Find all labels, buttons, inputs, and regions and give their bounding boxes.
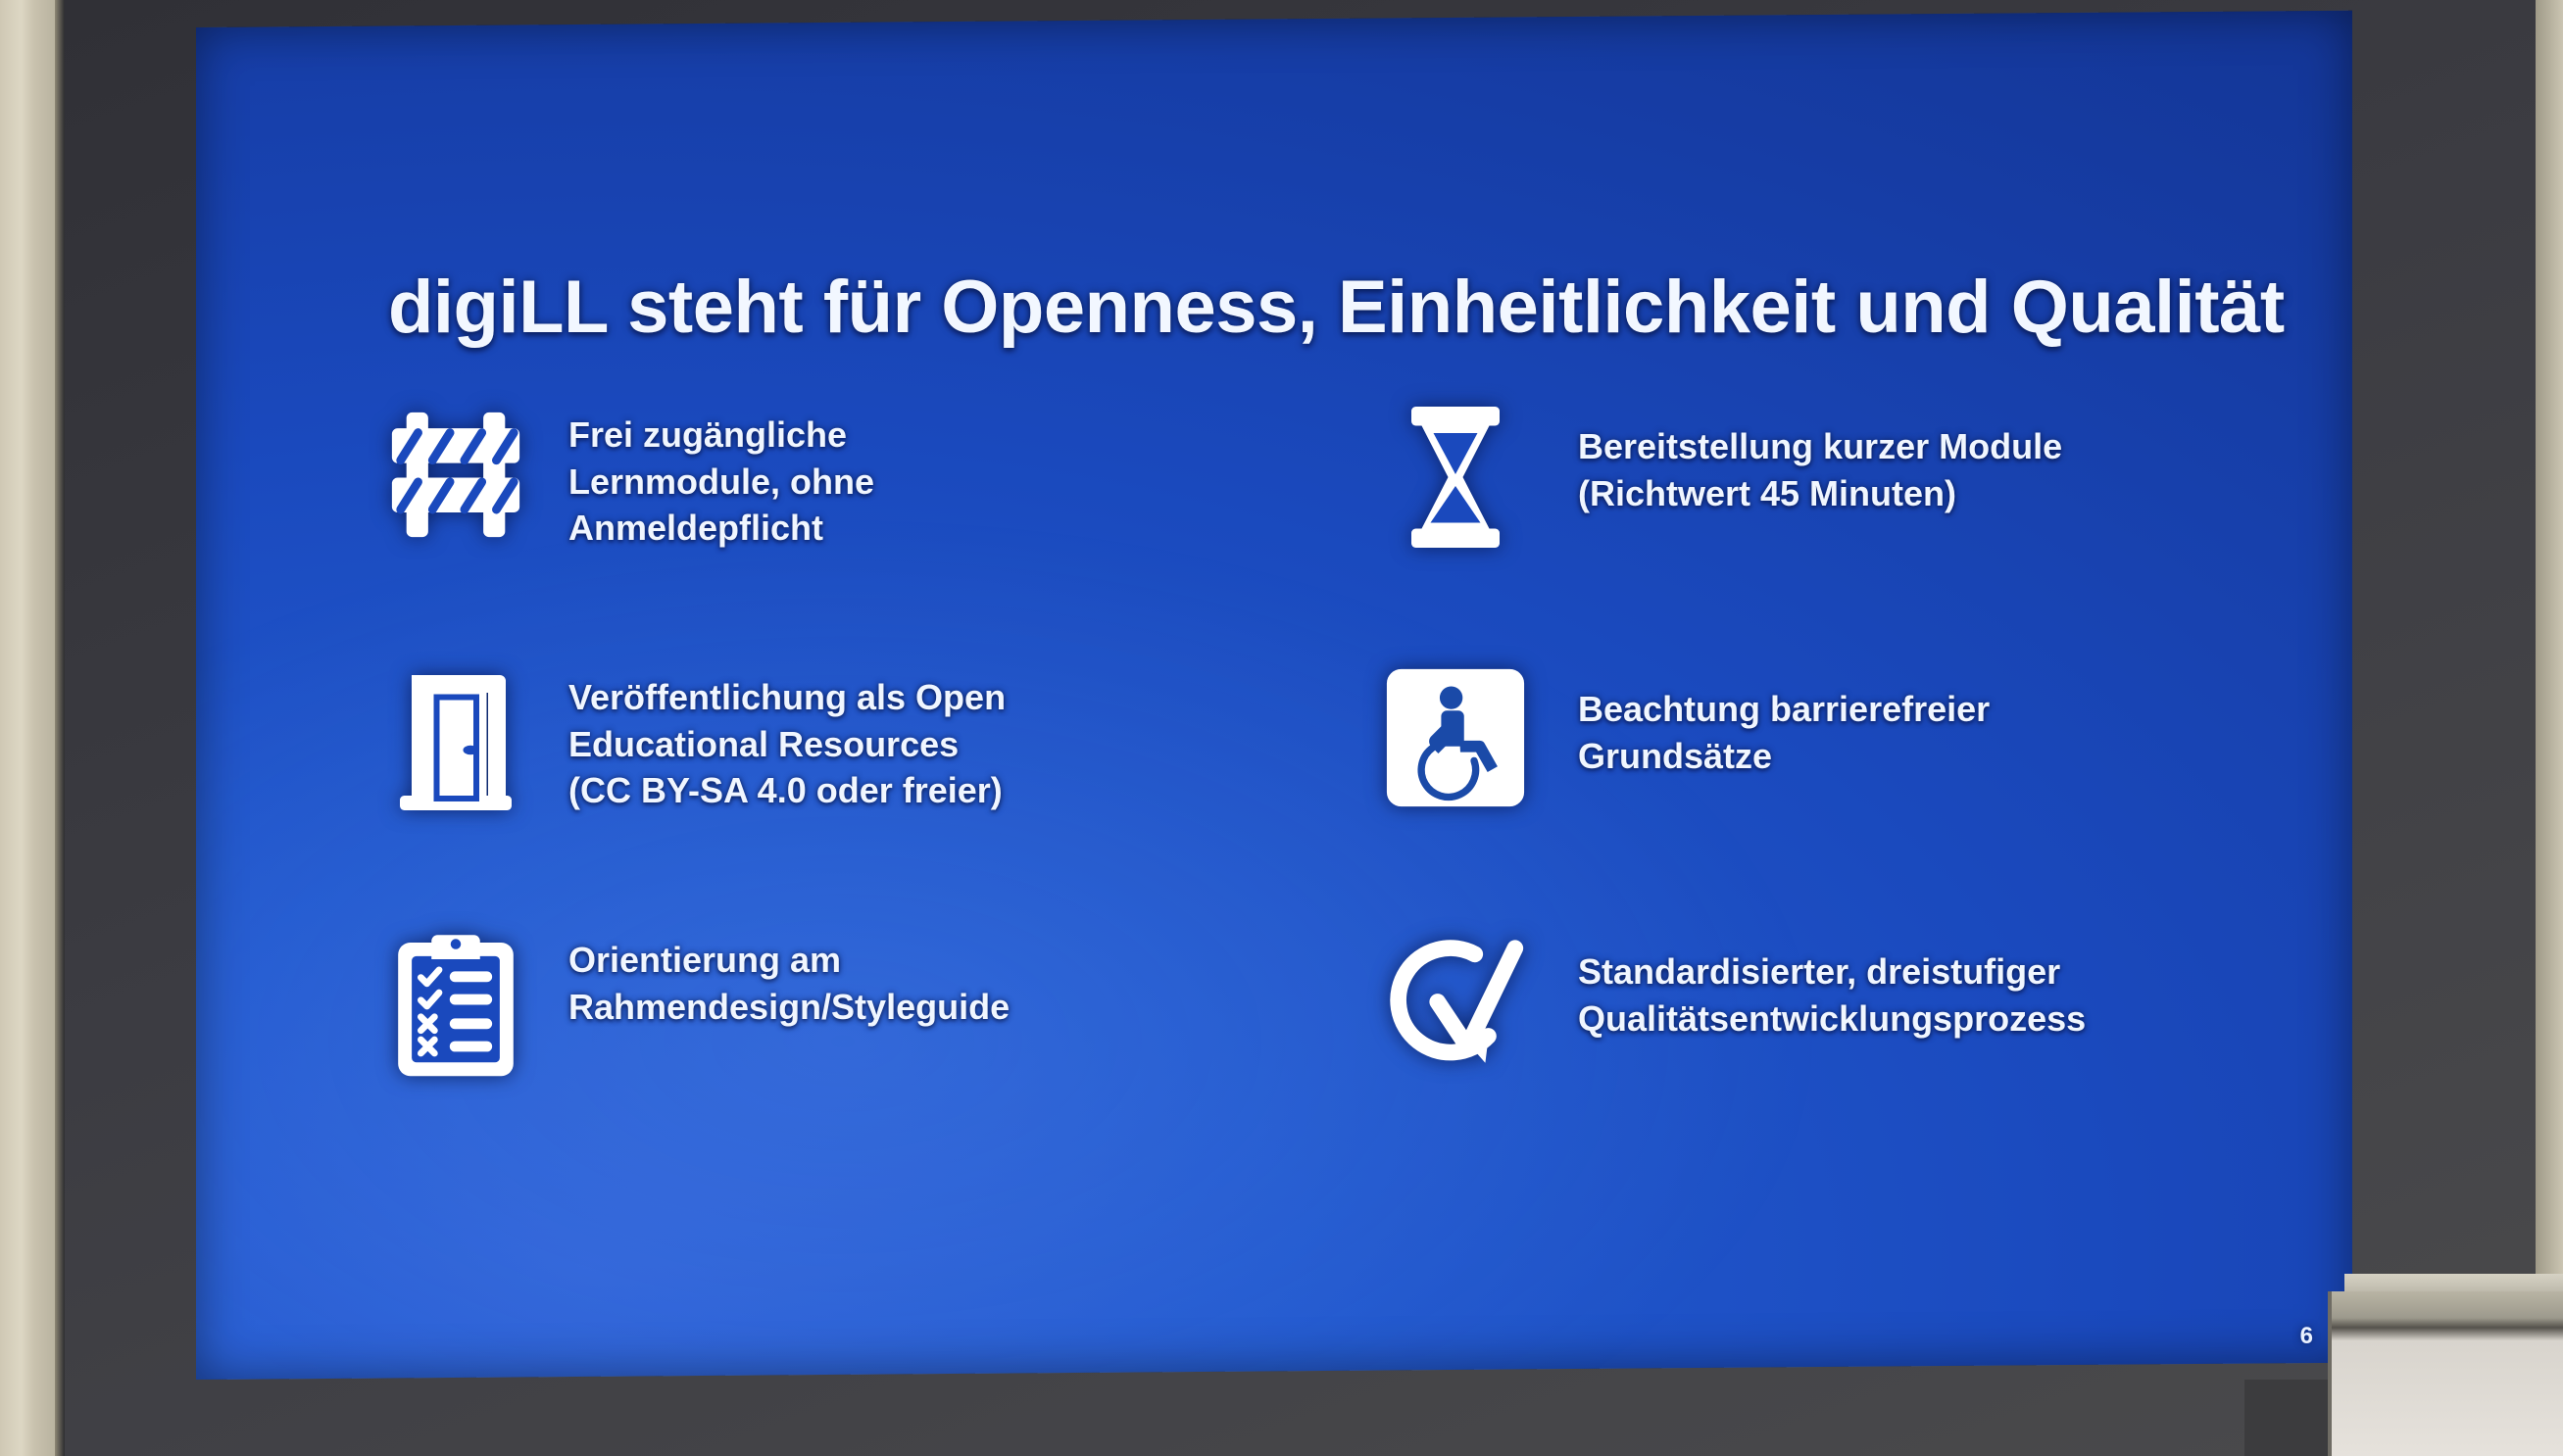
feature-line: Grundsätze [1578,733,1990,780]
feature-text: Frei zugängliche Lernmodule, ohne Anmeld… [568,390,874,552]
whiteboard [2328,1291,2563,1456]
wall-right-strip [2536,0,2563,1456]
feature-line: Lernmodule, ohne [568,459,874,506]
feature-text: Standardisierter, dreistufiger Qualitäts… [1578,915,2086,1042]
feature-item-oer-license: Veröffentlichung als Open Educational Re… [343,653,1333,915]
wall-left-strip [0,0,55,1456]
wall-left-edge [55,0,65,1456]
feature-item-styleguide: Orientierung am Rahmendesign/Styleguide [343,915,1333,1178]
feature-item-open-access: Frei zugängliche Lernmodule, ohne Anmeld… [343,390,1333,653]
feature-line: Orientierung am [568,937,1010,984]
presentation-slide: digiLL steht für Openness, Einheitlichke… [196,11,2352,1380]
feature-line: Anmeldepflicht [568,505,874,552]
feature-line: Rahmendesign/Styleguide [568,984,1010,1031]
barrier-icon [343,390,568,549]
feature-text: Orientierung am Rahmendesign/Styleguide [568,915,1010,1030]
open-door-icon [343,653,568,813]
feature-item-accessibility: Beachtung barrierefreier Grundsätze [1333,653,2323,915]
slide-number: 6 [2300,1323,2313,1350]
feature-line: Veröffentlichung als Open [568,674,1006,721]
hourglass-icon [1333,390,1578,551]
feature-line: Frei zugängliche [568,412,874,459]
room-background: digiLL steht für Openness, Einheitlichke… [0,0,2563,1456]
feature-line: (CC BY-SA 4.0 oder freier) [568,767,1006,814]
feature-text: Bereitstellung kurzer Module (Richtwert … [1578,390,2062,516]
feature-item-short-modules: Bereitstellung kurzer Module (Richtwert … [1333,390,2323,653]
feature-line: Qualitätsentwicklungsprozess [1578,995,2086,1043]
checkmark-cycle-icon [1333,915,1578,1078]
feature-grid: Frei zugängliche Lernmodule, ohne Anmeld… [343,390,2323,1178]
feature-item-quality-process: Standardisierter, dreistufiger Qualitäts… [1333,915,2323,1178]
feature-line: Bereitstellung kurzer Module [1578,423,2062,470]
feature-text: Veröffentlichung als Open Educational Re… [568,653,1006,814]
wheelchair-accessibility-icon [1333,653,1578,809]
feature-line: Standardisierter, dreistufiger [1578,948,2086,995]
projection-screen-bezel: digiLL steht für Openness, Einheitlichke… [65,0,2536,1456]
feature-text: Beachtung barrierefreier Grundsätze [1578,653,1990,779]
clipboard-checklist-icon [343,915,568,1084]
feature-line: Educational Resources [568,721,1006,768]
page-title: digiLL steht für Openness, Einheitlichke… [388,268,2309,347]
feature-line: Beachtung barrierefreier [1578,686,1990,733]
feature-line: (Richtwert 45 Minuten) [1578,470,2062,517]
